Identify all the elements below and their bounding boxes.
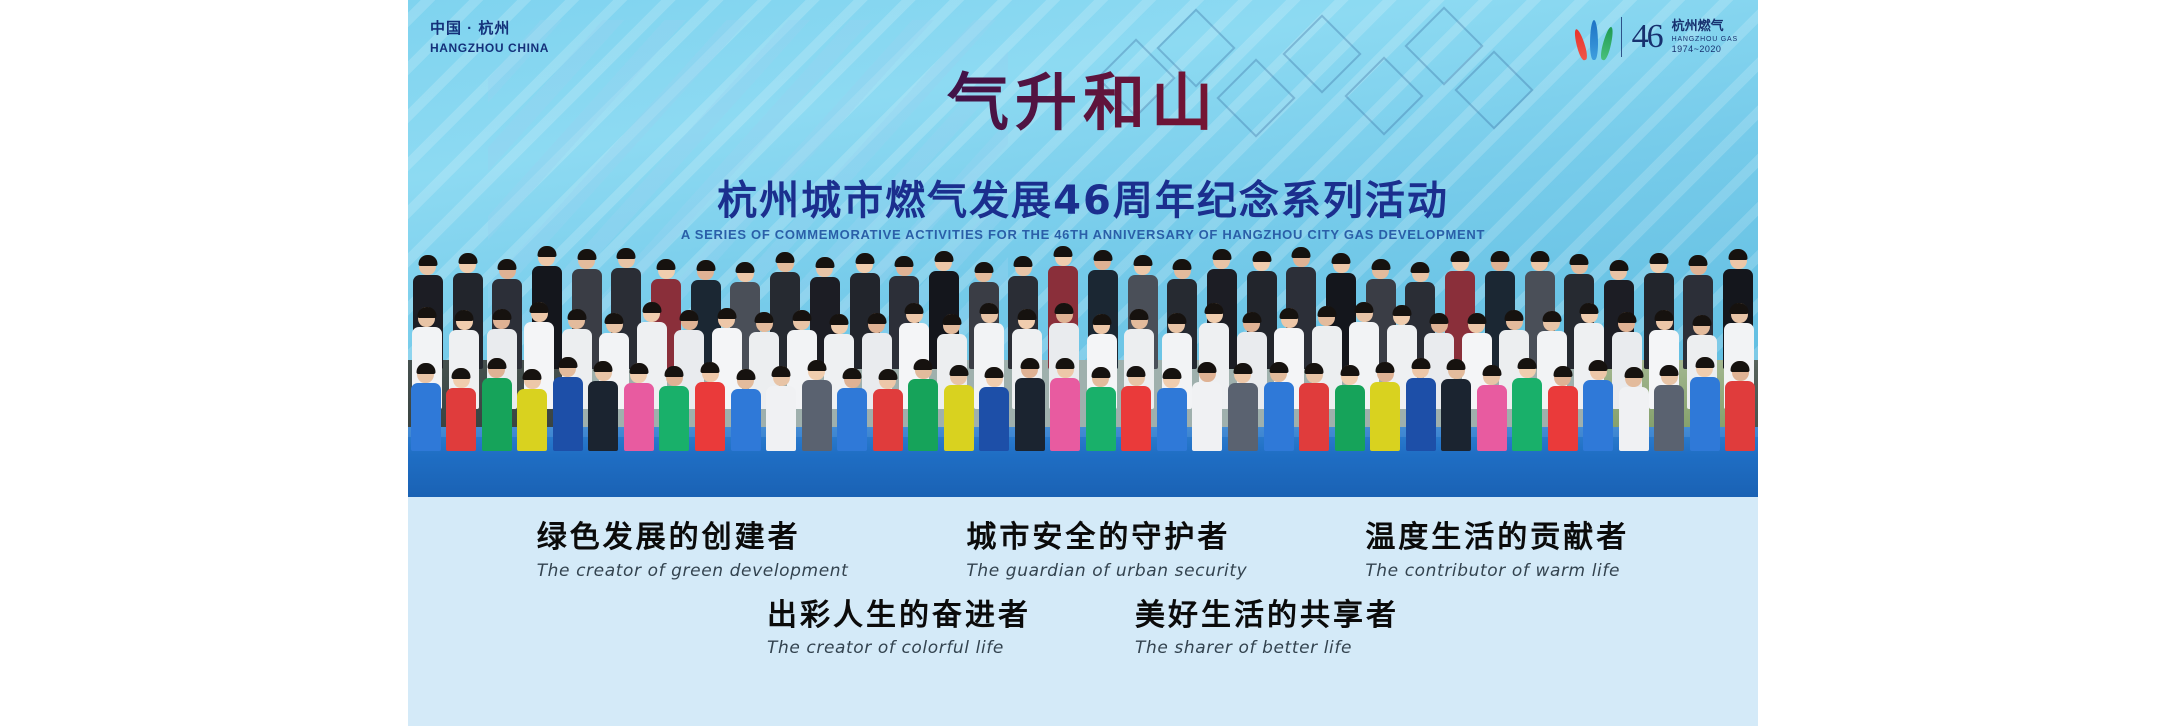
person-body <box>837 388 867 451</box>
person-body <box>482 378 512 451</box>
person-hair <box>458 253 477 264</box>
person-hair <box>1292 247 1311 258</box>
person-body <box>1157 388 1187 451</box>
person-hair <box>717 308 736 319</box>
person-hair <box>1430 313 1449 324</box>
slogan-cn: 城市安全的守护者 <box>966 521 1247 556</box>
person-body <box>1583 380 1613 451</box>
person-hair <box>878 369 897 380</box>
person <box>550 357 586 451</box>
person-hair <box>1317 306 1336 317</box>
person-body <box>1192 382 1222 451</box>
person-hair <box>1252 251 1271 262</box>
person-hair <box>1649 253 1668 264</box>
person-hair <box>1505 310 1524 321</box>
person-hair <box>1570 254 1589 265</box>
person-body <box>1335 385 1365 451</box>
slogan-en: The creator of colorful life <box>767 638 1031 658</box>
person <box>692 362 728 451</box>
person-hair <box>455 310 474 321</box>
person-hair <box>558 357 577 368</box>
person-hair <box>1017 309 1036 320</box>
person-hair <box>1269 362 1288 373</box>
person-hair <box>523 369 542 380</box>
person-hair <box>1655 310 1674 321</box>
person-hair <box>1162 368 1181 379</box>
person-hair <box>1580 303 1599 314</box>
person-hair <box>815 257 834 268</box>
anniversary-number: 46 <box>1632 18 1662 56</box>
slogan-item: 出彩人生的奋进者 The creator of colorful life <box>767 599 1031 659</box>
person-body <box>1086 387 1116 451</box>
person <box>1403 358 1439 451</box>
person-hair <box>1729 249 1748 260</box>
person <box>408 363 444 451</box>
person <box>1083 367 1119 451</box>
person-hair <box>1695 357 1714 368</box>
person-body <box>624 383 654 451</box>
person-hair <box>1340 365 1359 376</box>
person-body <box>731 389 761 451</box>
person-body <box>1548 386 1578 451</box>
person-body <box>695 382 725 451</box>
person <box>1048 358 1084 451</box>
person-body <box>1228 383 1258 451</box>
person <box>1474 365 1510 451</box>
person-hair <box>855 253 874 264</box>
brand-name-en: HANGZHOU GAS <box>1672 35 1738 44</box>
person-body <box>1121 386 1151 451</box>
person-hair <box>567 309 586 320</box>
person-body <box>1015 378 1045 451</box>
person-hair <box>980 303 999 314</box>
person-hair <box>776 252 795 263</box>
person-hair <box>701 362 720 373</box>
person-hair <box>1609 260 1628 271</box>
person <box>1261 362 1297 451</box>
person-body <box>1512 378 1542 451</box>
person-hair <box>1133 255 1152 266</box>
location-label-cn: 中国 · 杭州 <box>430 18 549 40</box>
person <box>621 363 657 451</box>
person-hair <box>1482 365 1501 376</box>
crowd-row-front <box>408 357 1758 451</box>
person-body <box>553 377 583 451</box>
person-hair <box>1589 360 1608 371</box>
person-hair <box>807 360 826 371</box>
person-hair <box>1130 309 1149 320</box>
person-hair <box>594 361 613 372</box>
person-hair <box>665 366 684 377</box>
person-hair <box>487 358 506 369</box>
slogan-en: The contributor of warm life <box>1365 561 1629 581</box>
person <box>1652 365 1688 451</box>
person <box>1225 363 1261 451</box>
slogan-panel: 绿色发展的创建者 The creator of green developmen… <box>408 497 1758 726</box>
person-hair <box>418 255 437 266</box>
person <box>905 359 941 451</box>
person-hair <box>1093 250 1112 261</box>
person-body <box>944 385 974 451</box>
person <box>444 368 480 451</box>
person-body <box>1441 379 1471 451</box>
person-hair <box>905 303 924 314</box>
person-hair <box>1689 255 1708 266</box>
person <box>515 369 551 451</box>
person-hair <box>755 312 774 323</box>
person <box>728 369 764 451</box>
person-hair <box>1376 362 1395 373</box>
person-body <box>1299 383 1329 451</box>
person-hair <box>792 310 811 321</box>
person <box>1332 365 1368 451</box>
slogan-item: 绿色发展的创建者 The creator of green developmen… <box>537 521 849 581</box>
person <box>1581 360 1617 451</box>
person-hair <box>1730 303 1749 314</box>
person-hair <box>1242 312 1261 323</box>
person <box>1119 366 1155 451</box>
person-hair <box>605 313 624 324</box>
person-hair <box>867 313 886 324</box>
person-hair <box>1212 249 1231 260</box>
brand-name-cn: 杭州燃气 <box>1672 18 1738 35</box>
slogan-row-1: 绿色发展的创建者 The creator of green developmen… <box>408 497 1758 581</box>
person-hair <box>1553 366 1572 377</box>
slogan-item: 温度生活的贡献者 The contributor of warm life <box>1365 521 1629 581</box>
person-hair <box>1447 359 1466 370</box>
person-hair <box>942 314 961 325</box>
person-hair <box>417 307 436 318</box>
person-body <box>1264 382 1294 451</box>
event-logotype: 气升和山 <box>408 52 1758 142</box>
person-hair <box>1054 246 1073 257</box>
brand-lockup: 杭州燃气 HANGZHOU GAS 1974~2020 <box>1672 18 1738 56</box>
person <box>1296 363 1332 451</box>
person-hair <box>1518 358 1537 369</box>
person <box>479 358 515 451</box>
person-hair <box>934 251 953 262</box>
person-hair <box>617 248 636 259</box>
slogan-en: The creator of green development <box>537 561 849 581</box>
person-body <box>411 383 441 451</box>
person-hair <box>914 359 933 370</box>
person <box>763 366 799 451</box>
person-hair <box>830 314 849 325</box>
logo-divider <box>1621 17 1622 57</box>
person <box>1367 362 1403 451</box>
person-hair <box>1731 361 1750 372</box>
slogan-cn: 绿色发展的创建者 <box>537 521 849 556</box>
person-hair <box>1451 251 1470 262</box>
person-body <box>517 389 547 451</box>
person <box>657 366 693 451</box>
person-hair <box>736 369 755 380</box>
person-hair <box>1371 259 1390 270</box>
person <box>1723 361 1758 451</box>
person <box>799 360 835 451</box>
person-hair <box>1205 303 1224 314</box>
person-hair <box>1411 358 1430 369</box>
person-hair <box>895 256 914 267</box>
person-body <box>1370 382 1400 451</box>
person-hair <box>657 259 676 270</box>
person-body <box>1477 385 1507 451</box>
person-hair <box>949 365 968 376</box>
person-body <box>766 386 796 451</box>
person-hair <box>1467 313 1486 324</box>
person-body <box>1690 377 1720 451</box>
slogan-row-2: 出彩人生的奋进者 The creator of colorful life 美好… <box>408 581 1758 659</box>
person <box>941 365 977 451</box>
person-hair <box>498 259 517 270</box>
person <box>1509 358 1545 451</box>
person-hair <box>537 246 556 257</box>
person-hair <box>1305 363 1324 374</box>
person-body <box>1050 378 1080 451</box>
person-hair <box>1127 366 1146 377</box>
person-body <box>1654 385 1684 451</box>
person-hair <box>1056 358 1075 369</box>
person-hair <box>1490 251 1509 262</box>
person-hair <box>452 368 471 379</box>
person-hair <box>843 368 862 379</box>
person-hair <box>1617 312 1636 323</box>
person <box>1438 359 1474 451</box>
person-body <box>1619 387 1649 451</box>
person <box>1545 366 1581 451</box>
page-root: 中国 · 杭州 HANGZHOU CHINA 46 杭州燃气 HANGZHOU … <box>0 0 2179 726</box>
person-body <box>659 386 689 451</box>
slogan-item: 美好生活的共享者 The sharer of better life <box>1135 599 1399 659</box>
person <box>586 361 622 451</box>
person <box>1687 357 1723 451</box>
slogan-en: The sharer of better life <box>1135 638 1399 658</box>
person-hair <box>492 309 511 320</box>
slogan-cn: 出彩人生的奋进者 <box>767 599 1031 634</box>
person-body <box>588 381 618 451</box>
person-hair <box>1280 308 1299 319</box>
person-body <box>908 379 938 451</box>
person-hair <box>530 302 549 313</box>
slogan-cn: 温度生活的贡献者 <box>1365 521 1629 556</box>
person-hair <box>1198 362 1217 373</box>
crowd-group <box>408 197 1758 497</box>
person-hair <box>1091 367 1110 378</box>
person-hair <box>1020 358 1039 369</box>
person-body <box>446 388 476 451</box>
person-hair <box>629 363 648 374</box>
person <box>1154 368 1190 451</box>
person-hair <box>1411 262 1430 273</box>
person-hair <box>642 302 661 313</box>
person-hair <box>1530 251 1549 262</box>
person <box>1190 362 1226 451</box>
person-hair <box>985 367 1004 378</box>
person-body <box>802 380 832 451</box>
person-hair <box>1332 253 1351 264</box>
person-hair <box>1392 305 1411 316</box>
slogan-item: 城市安全的守护者 The guardian of urban security <box>966 521 1247 581</box>
person-hair <box>1173 259 1192 270</box>
person-hair <box>680 310 699 321</box>
person-body <box>979 387 1009 451</box>
person-hair <box>736 262 755 273</box>
person-hair <box>1233 363 1252 374</box>
person-body <box>873 389 903 451</box>
person <box>1616 367 1652 451</box>
person-body <box>1725 381 1755 451</box>
person <box>834 368 870 451</box>
person-hair <box>577 249 596 260</box>
event-group-photo: 中国 · 杭州 HANGZHOU CHINA 46 杭州燃气 HANGZHOU … <box>408 0 1758 497</box>
person-hair <box>416 363 435 374</box>
person-hair <box>1624 367 1643 378</box>
person-hair <box>1660 365 1679 376</box>
person-hair <box>1167 313 1186 324</box>
person-hair <box>1542 311 1561 322</box>
person-hair <box>1692 315 1711 326</box>
content-column: 中国 · 杭州 HANGZHOU CHINA 46 杭州燃气 HANGZHOU … <box>408 0 1758 726</box>
person-hair <box>974 262 993 273</box>
person-hair <box>772 366 791 377</box>
slogan-cn: 美好生活的共享者 <box>1135 599 1399 634</box>
person <box>870 369 906 451</box>
person-hair <box>1014 256 1033 267</box>
person <box>1012 358 1048 451</box>
person-hair <box>1092 314 1111 325</box>
person-body <box>1406 378 1436 451</box>
person <box>977 367 1013 451</box>
person-hair <box>1355 302 1374 313</box>
slogan-en: The guardian of urban security <box>966 561 1247 581</box>
person-hair <box>1055 303 1074 314</box>
person-hair <box>696 260 715 271</box>
